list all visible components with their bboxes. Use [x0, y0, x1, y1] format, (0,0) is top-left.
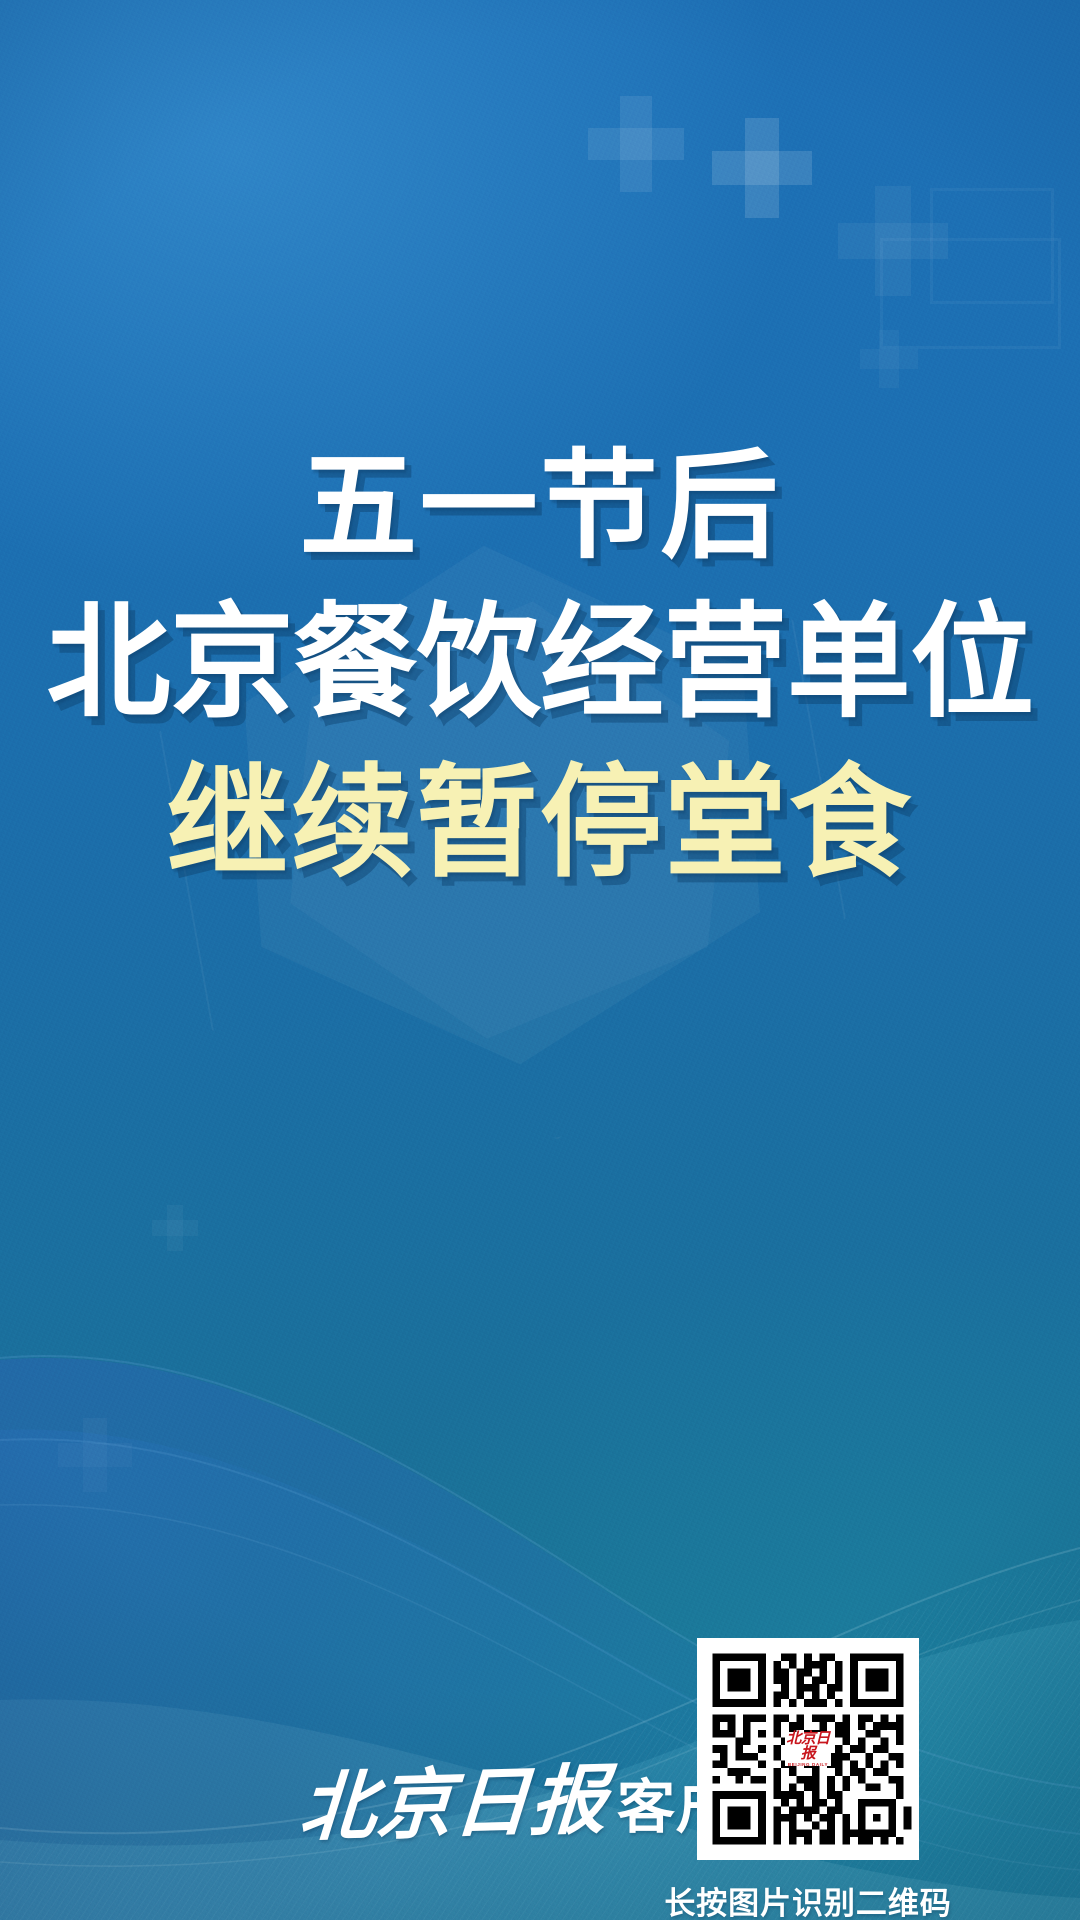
medical-cross-icon	[588, 96, 684, 192]
headline-line-3: 继续暂停堂食	[0, 755, 1080, 892]
qr-center-logo-en: BEIJING DAILY	[788, 1763, 828, 1768]
qr-caption: 长按图片识别二维码	[658, 1878, 958, 1920]
qr-block: 北京日报 BEIJING DAILY 长按图片识别二维码	[658, 1638, 958, 1920]
qr-center-logo: 北京日报 BEIJING DAILY	[785, 1732, 831, 1766]
poster-root: 五一节后 北京餐饮经营单位 继续暂停堂食 北京日报 客户端	[0, 0, 1080, 1920]
medical-cross-icon	[712, 118, 812, 218]
headline-block: 五一节后 北京餐饮经营单位 继续暂停堂食	[0, 440, 1080, 892]
medical-cross-icon	[152, 1205, 198, 1251]
qr-code[interactable]: 北京日报 BEIJING DAILY	[697, 1638, 919, 1860]
qr-center-logo-cn: 北京日报	[785, 1731, 831, 1761]
brand-logo-script: 北京日报	[297, 1762, 609, 1846]
decorative-rectangle	[880, 238, 1061, 349]
headline-line-2: 北京餐饮经营单位	[0, 594, 1080, 733]
medical-cross-icon	[58, 1418, 132, 1492]
headline-line-1: 五一节后	[0, 440, 1080, 572]
